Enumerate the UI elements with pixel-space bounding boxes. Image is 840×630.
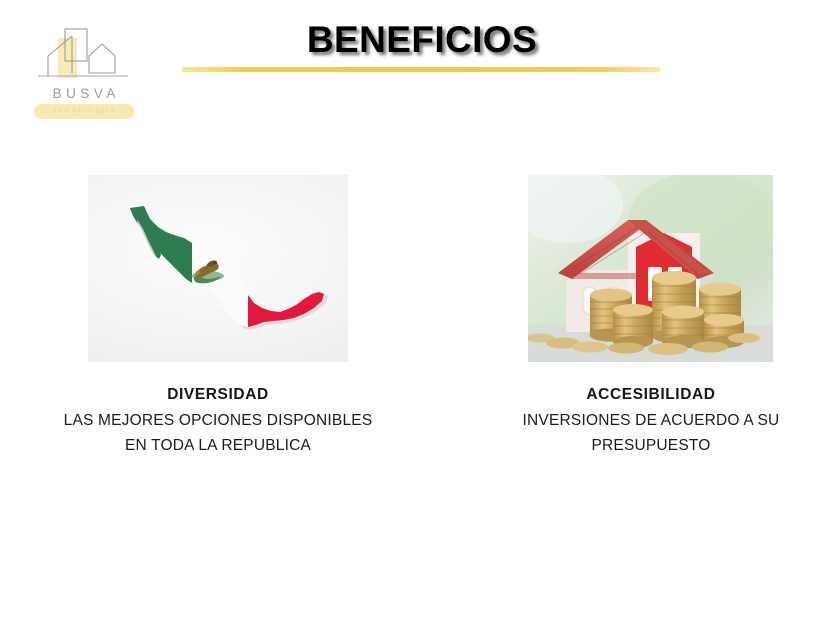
- benefit-column-accesibilidad: ACCESIBILIDAD INVERSIONES DE ACUERDO A S…: [528, 175, 773, 458]
- benefit-body-line-2: PRESUPUESTO: [486, 433, 816, 458]
- benefit-body-line-1: LAS MEJORES OPCIONES DISPONIBLES: [28, 408, 408, 433]
- title-underline-rule: [182, 67, 660, 72]
- benefit-heading: DIVERSIDAD: [28, 384, 408, 405]
- logo-tagline: Inmobiliaria: [34, 105, 134, 118]
- building-outline-logo-icon: [28, 26, 140, 88]
- logo-wordmark: BUSVA: [28, 86, 140, 101]
- benefit-caption-diversidad: DIVERSIDAD LAS MEJORES OPCIONES DISPONIB…: [28, 384, 408, 458]
- slide-canvas: BUSVA Inmobiliaria BENEFICIOS: [0, 0, 840, 630]
- mexico-map-flag-image: [88, 175, 348, 362]
- benefit-caption-accesibilidad: ACCESIBILIDAD INVERSIONES DE ACUERDO A S…: [486, 384, 816, 458]
- company-logo[interactable]: BUSVA Inmobiliaria: [28, 26, 140, 124]
- house-coins-image: [528, 175, 773, 362]
- slide-title: BENEFICIOS: [180, 18, 664, 62]
- benefit-column-diversidad: DIVERSIDAD LAS MEJORES OPCIONES DISPONIB…: [88, 175, 348, 458]
- benefit-heading: ACCESIBILIDAD: [486, 384, 816, 405]
- benefit-body-line-2: EN TODA LA REPUBLICA: [28, 433, 408, 458]
- benefit-body-line-1: INVERSIONES DE ACUERDO A SU: [486, 408, 816, 433]
